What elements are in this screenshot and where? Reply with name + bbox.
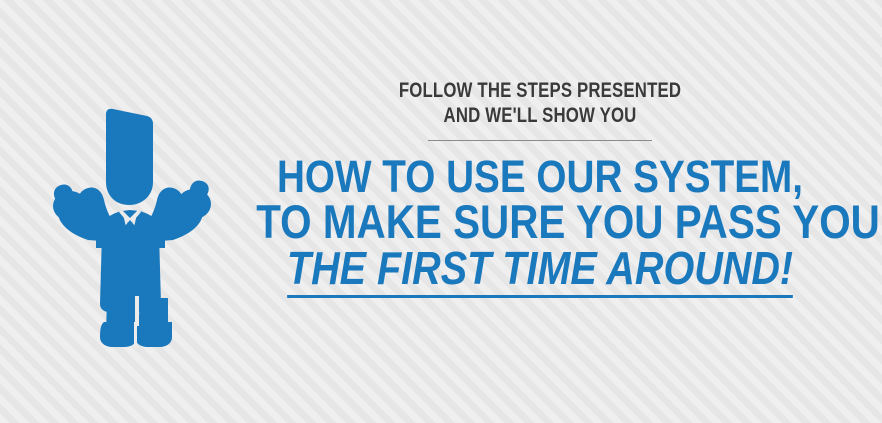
subheading-line-2: AND WE'LL SHOW YOU: [276, 103, 804, 128]
heading-line-3-text: THE FIRST TIME AROUND!: [287, 246, 793, 298]
heading-line-3: THE FIRST TIME AROUND!: [256, 246, 824, 298]
heading-line-1: HOW TO USE OUR SYSTEM,: [256, 154, 824, 199]
divider-wrap: [210, 140, 870, 141]
promo-banner: FOLLOW THE STEPS PRESENTED AND WE'LL SHO…: [0, 0, 882, 423]
heading-line-2: TO MAKE SURE YOU PASS YOUR EXAM,: [256, 199, 824, 244]
horizontal-divider: [428, 140, 652, 141]
businessman-arms-raised-icon: [44, 108, 224, 350]
subheading-line-1: FOLLOW THE STEPS PRESENTED: [276, 78, 804, 103]
banner-text-block: FOLLOW THE STEPS PRESENTED AND WE'LL SHO…: [210, 78, 870, 298]
